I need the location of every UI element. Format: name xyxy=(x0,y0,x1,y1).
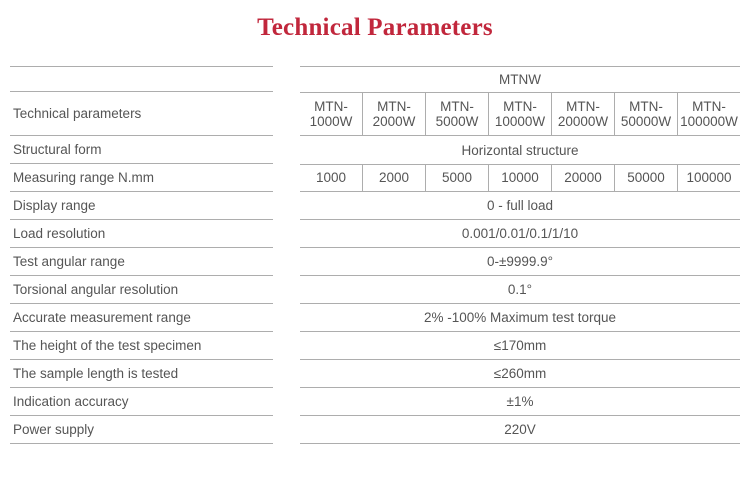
model-suffix: 100000W xyxy=(680,114,738,129)
column-gap xyxy=(273,388,300,416)
row-value: ≤170mm xyxy=(300,332,740,360)
measuring-range-3: 5000 xyxy=(426,165,489,191)
row-value: 0-±9999.9° xyxy=(300,248,740,276)
column-gap xyxy=(273,220,300,248)
page-title: Technical Parameters xyxy=(0,14,750,42)
model-header-3: MTN- 5000W xyxy=(426,93,489,135)
table-row-models: Technical parameters MTN- 1000W MTN- 200… xyxy=(0,92,750,136)
column-gap xyxy=(273,276,300,304)
parameter-column-label: Technical parameters xyxy=(10,92,273,136)
column-gap xyxy=(273,92,300,136)
model-suffix: 10000W xyxy=(495,114,545,129)
column-gap xyxy=(273,192,300,220)
row-value: Horizontal structure xyxy=(300,136,740,164)
column-gap xyxy=(273,66,300,92)
model-prefix: MTN- xyxy=(440,99,474,114)
model-suffix: 50000W xyxy=(621,114,671,129)
model-suffix: 5000W xyxy=(436,114,479,129)
row-label: Display range xyxy=(10,192,273,220)
column-gap xyxy=(273,248,300,276)
model-suffix: 2000W xyxy=(373,114,416,129)
table-row: Power supply 220V xyxy=(0,416,750,444)
row-label: The height of the test specimen xyxy=(10,332,273,360)
model-header-5: MTN- 20000W xyxy=(552,93,615,135)
model-header-cells: MTN- 1000W MTN- 2000W MTN- 5000W MTN- 10… xyxy=(300,92,740,136)
measuring-range-6: 50000 xyxy=(615,165,678,191)
model-header-2: MTN- 2000W xyxy=(363,93,426,135)
model-suffix: 1000W xyxy=(310,114,353,129)
model-header-7: MTN- 100000W xyxy=(678,93,740,135)
measuring-range-7: 100000 xyxy=(678,165,740,191)
table-row: Load resolution 0.001/0.01/0.1/1/10 xyxy=(0,220,750,248)
table-row: Indication accuracy ±1% xyxy=(0,388,750,416)
row-label: Test angular range xyxy=(10,248,273,276)
column-gap xyxy=(273,304,300,332)
measuring-range-5: 20000 xyxy=(552,165,615,191)
model-prefix: MTN- xyxy=(566,99,600,114)
model-prefix: MTN- xyxy=(503,99,537,114)
model-prefix: MTN- xyxy=(377,99,411,114)
row-label: The sample length is tested xyxy=(10,360,273,388)
column-gap xyxy=(273,164,300,192)
table-row: Structural form Horizontal structure xyxy=(0,136,750,164)
table-row: Display range 0 - full load xyxy=(0,192,750,220)
row-label: Indication accuracy xyxy=(10,388,273,416)
row-label: Torsional angular resolution xyxy=(10,276,273,304)
table-row: Torsional angular resolution 0.1° xyxy=(0,276,750,304)
row-label: Measuring range N.mm xyxy=(10,164,273,192)
measuring-range-1: 1000 xyxy=(300,165,363,191)
model-prefix: MTN- xyxy=(629,99,663,114)
technical-parameters-table: MTNW Technical parameters MTN- 1000W MTN… xyxy=(0,66,750,444)
row-value: 220V xyxy=(300,416,740,444)
row-label: Structural form xyxy=(10,136,273,164)
row-label: Load resolution xyxy=(10,220,273,248)
group-header-cell: MTNW xyxy=(300,66,740,92)
row-value: ≤260mm xyxy=(300,360,740,388)
model-header-6: MTN- 50000W xyxy=(615,93,678,135)
model-prefix: MTN- xyxy=(692,99,726,114)
column-gap xyxy=(273,360,300,388)
table-row: Accurate measurement range 2% -100% Maxi… xyxy=(0,304,750,332)
row-label: Power supply xyxy=(10,416,273,444)
table-row-group-header: MTNW xyxy=(0,66,750,92)
model-suffix: 20000W xyxy=(558,114,608,129)
label-cell-empty xyxy=(10,66,273,92)
table-row: Test angular range 0-±9999.9° xyxy=(0,248,750,276)
table-row-measuring-range: Measuring range N.mm 1000 2000 5000 1000… xyxy=(0,164,750,192)
row-value: 2% -100% Maximum test torque xyxy=(300,304,740,332)
measuring-range-cells: 1000 2000 5000 10000 20000 50000 100000 xyxy=(300,164,740,192)
measuring-range-4: 10000 xyxy=(489,165,552,191)
row-value: ±1% xyxy=(300,388,740,416)
row-value: 0.001/0.01/0.1/1/10 xyxy=(300,220,740,248)
row-value: 0.1° xyxy=(300,276,740,304)
column-gap xyxy=(273,136,300,164)
table-row: The sample length is tested ≤260mm xyxy=(0,360,750,388)
measuring-range-2: 2000 xyxy=(363,165,426,191)
model-prefix: MTN- xyxy=(314,99,348,114)
row-label: Accurate measurement range xyxy=(10,304,273,332)
row-value: 0 - full load xyxy=(300,192,740,220)
column-gap xyxy=(273,416,300,444)
column-gap xyxy=(273,332,300,360)
table-row: The height of the test specimen ≤170mm xyxy=(0,332,750,360)
model-header-1: MTN- 1000W xyxy=(300,93,363,135)
model-header-4: MTN- 10000W xyxy=(489,93,552,135)
